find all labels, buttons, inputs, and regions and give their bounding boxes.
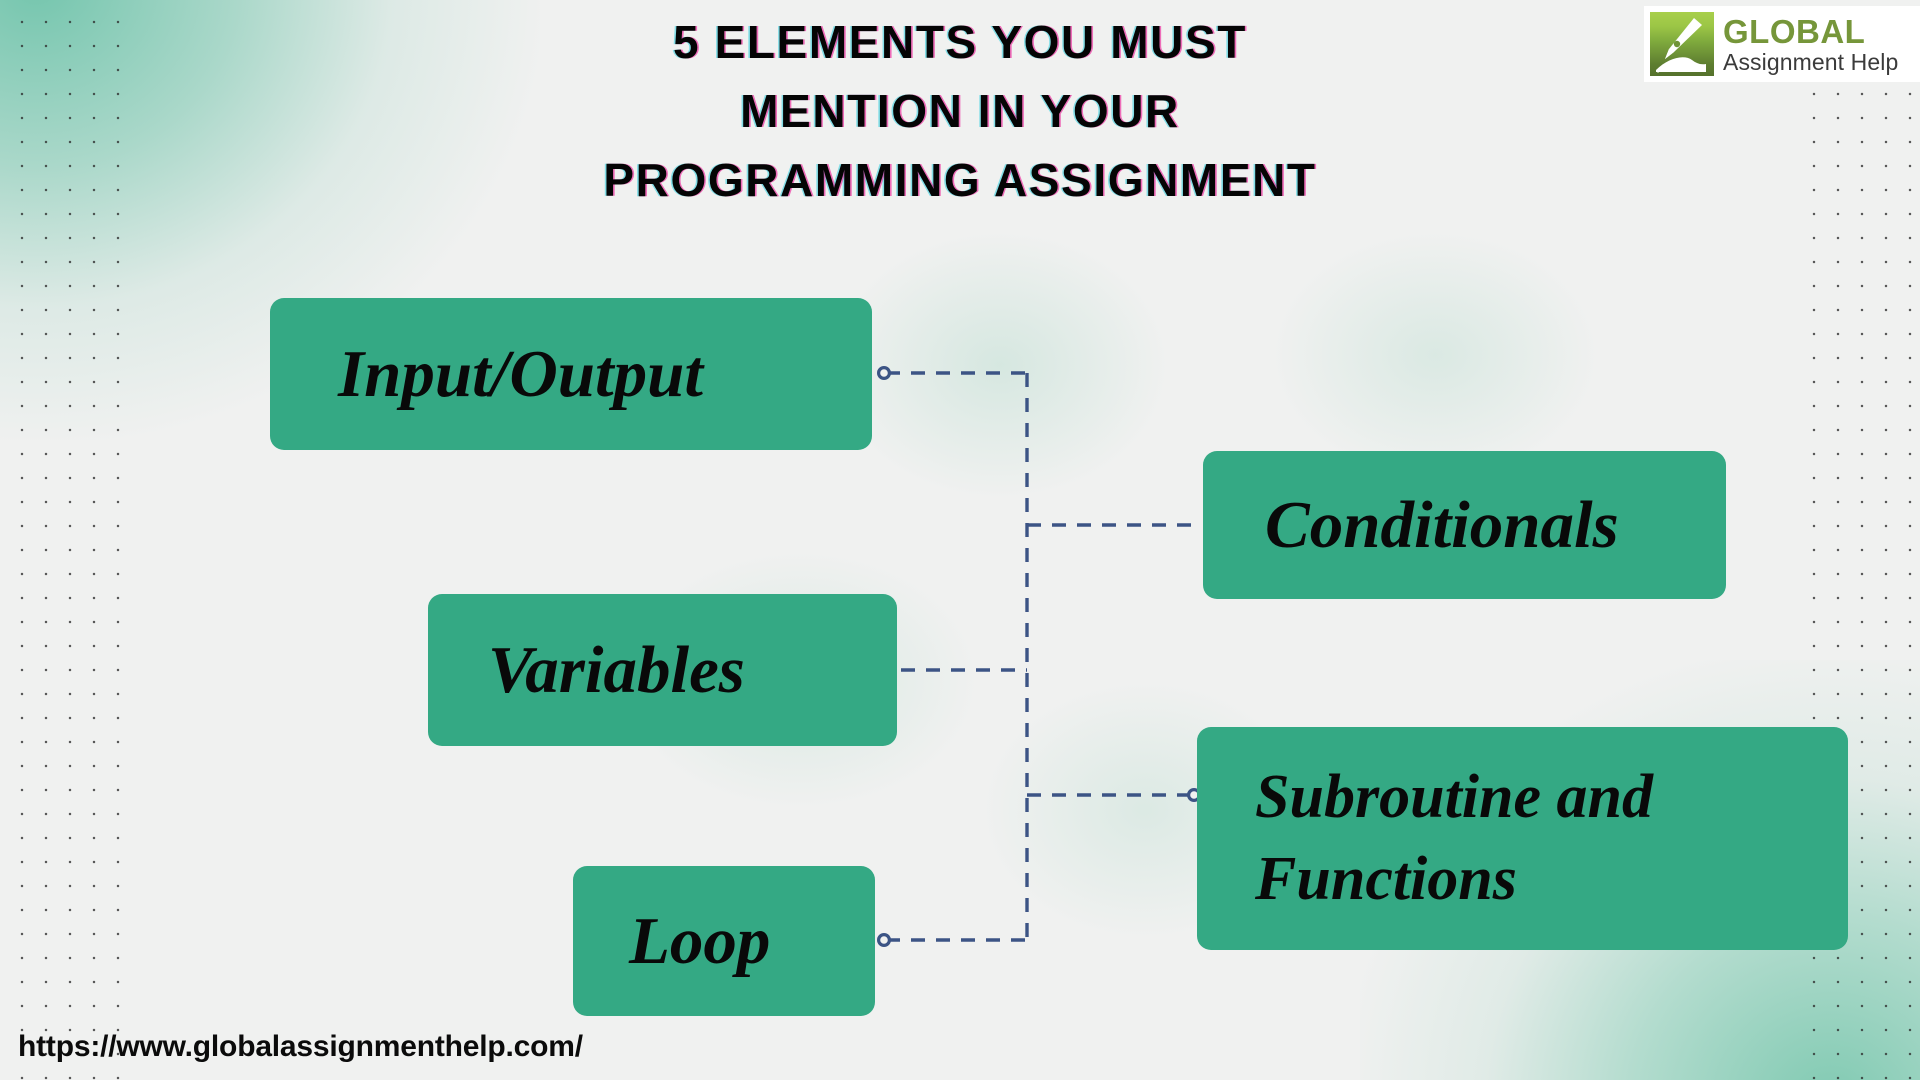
logo-text: GLOBAL Assignment Help xyxy=(1723,15,1898,74)
node-variables[interactable]: Variables xyxy=(428,594,897,746)
website-url[interactable]: https://www.globalassignmenthelp.com/ xyxy=(18,1030,583,1064)
node-input-output[interactable]: Input/Output xyxy=(270,298,872,450)
node-label: Variables xyxy=(488,632,897,709)
logo-title: GLOBAL xyxy=(1723,15,1898,48)
page-title-line-3: Programming Assignment xyxy=(300,146,1620,215)
node-label: Loop xyxy=(629,903,875,980)
node-label: Subroutine and Functions xyxy=(1255,757,1848,921)
infographic-canvas: GLOBAL Assignment Help 5 Elements You Mu… xyxy=(0,0,1920,1080)
node-conditionals[interactable]: Conditionals xyxy=(1203,451,1726,599)
page-title-line-1: 5 Elements You Must xyxy=(300,8,1620,77)
logo-subtitle: Assignment Help xyxy=(1723,51,1898,74)
node-label: Input/Output xyxy=(338,336,872,413)
node-subroutine[interactable]: Subroutine and Functions xyxy=(1197,727,1848,950)
pen-nib-icon xyxy=(1650,12,1714,76)
page-title-line-2: Mention in Your xyxy=(300,77,1620,146)
node-label: Conditionals xyxy=(1265,487,1726,564)
brand-logo: GLOBAL Assignment Help xyxy=(1644,6,1920,82)
page-title: 5 Elements You Must Mention in Your Prog… xyxy=(300,8,1620,215)
node-loop[interactable]: Loop xyxy=(573,866,875,1016)
